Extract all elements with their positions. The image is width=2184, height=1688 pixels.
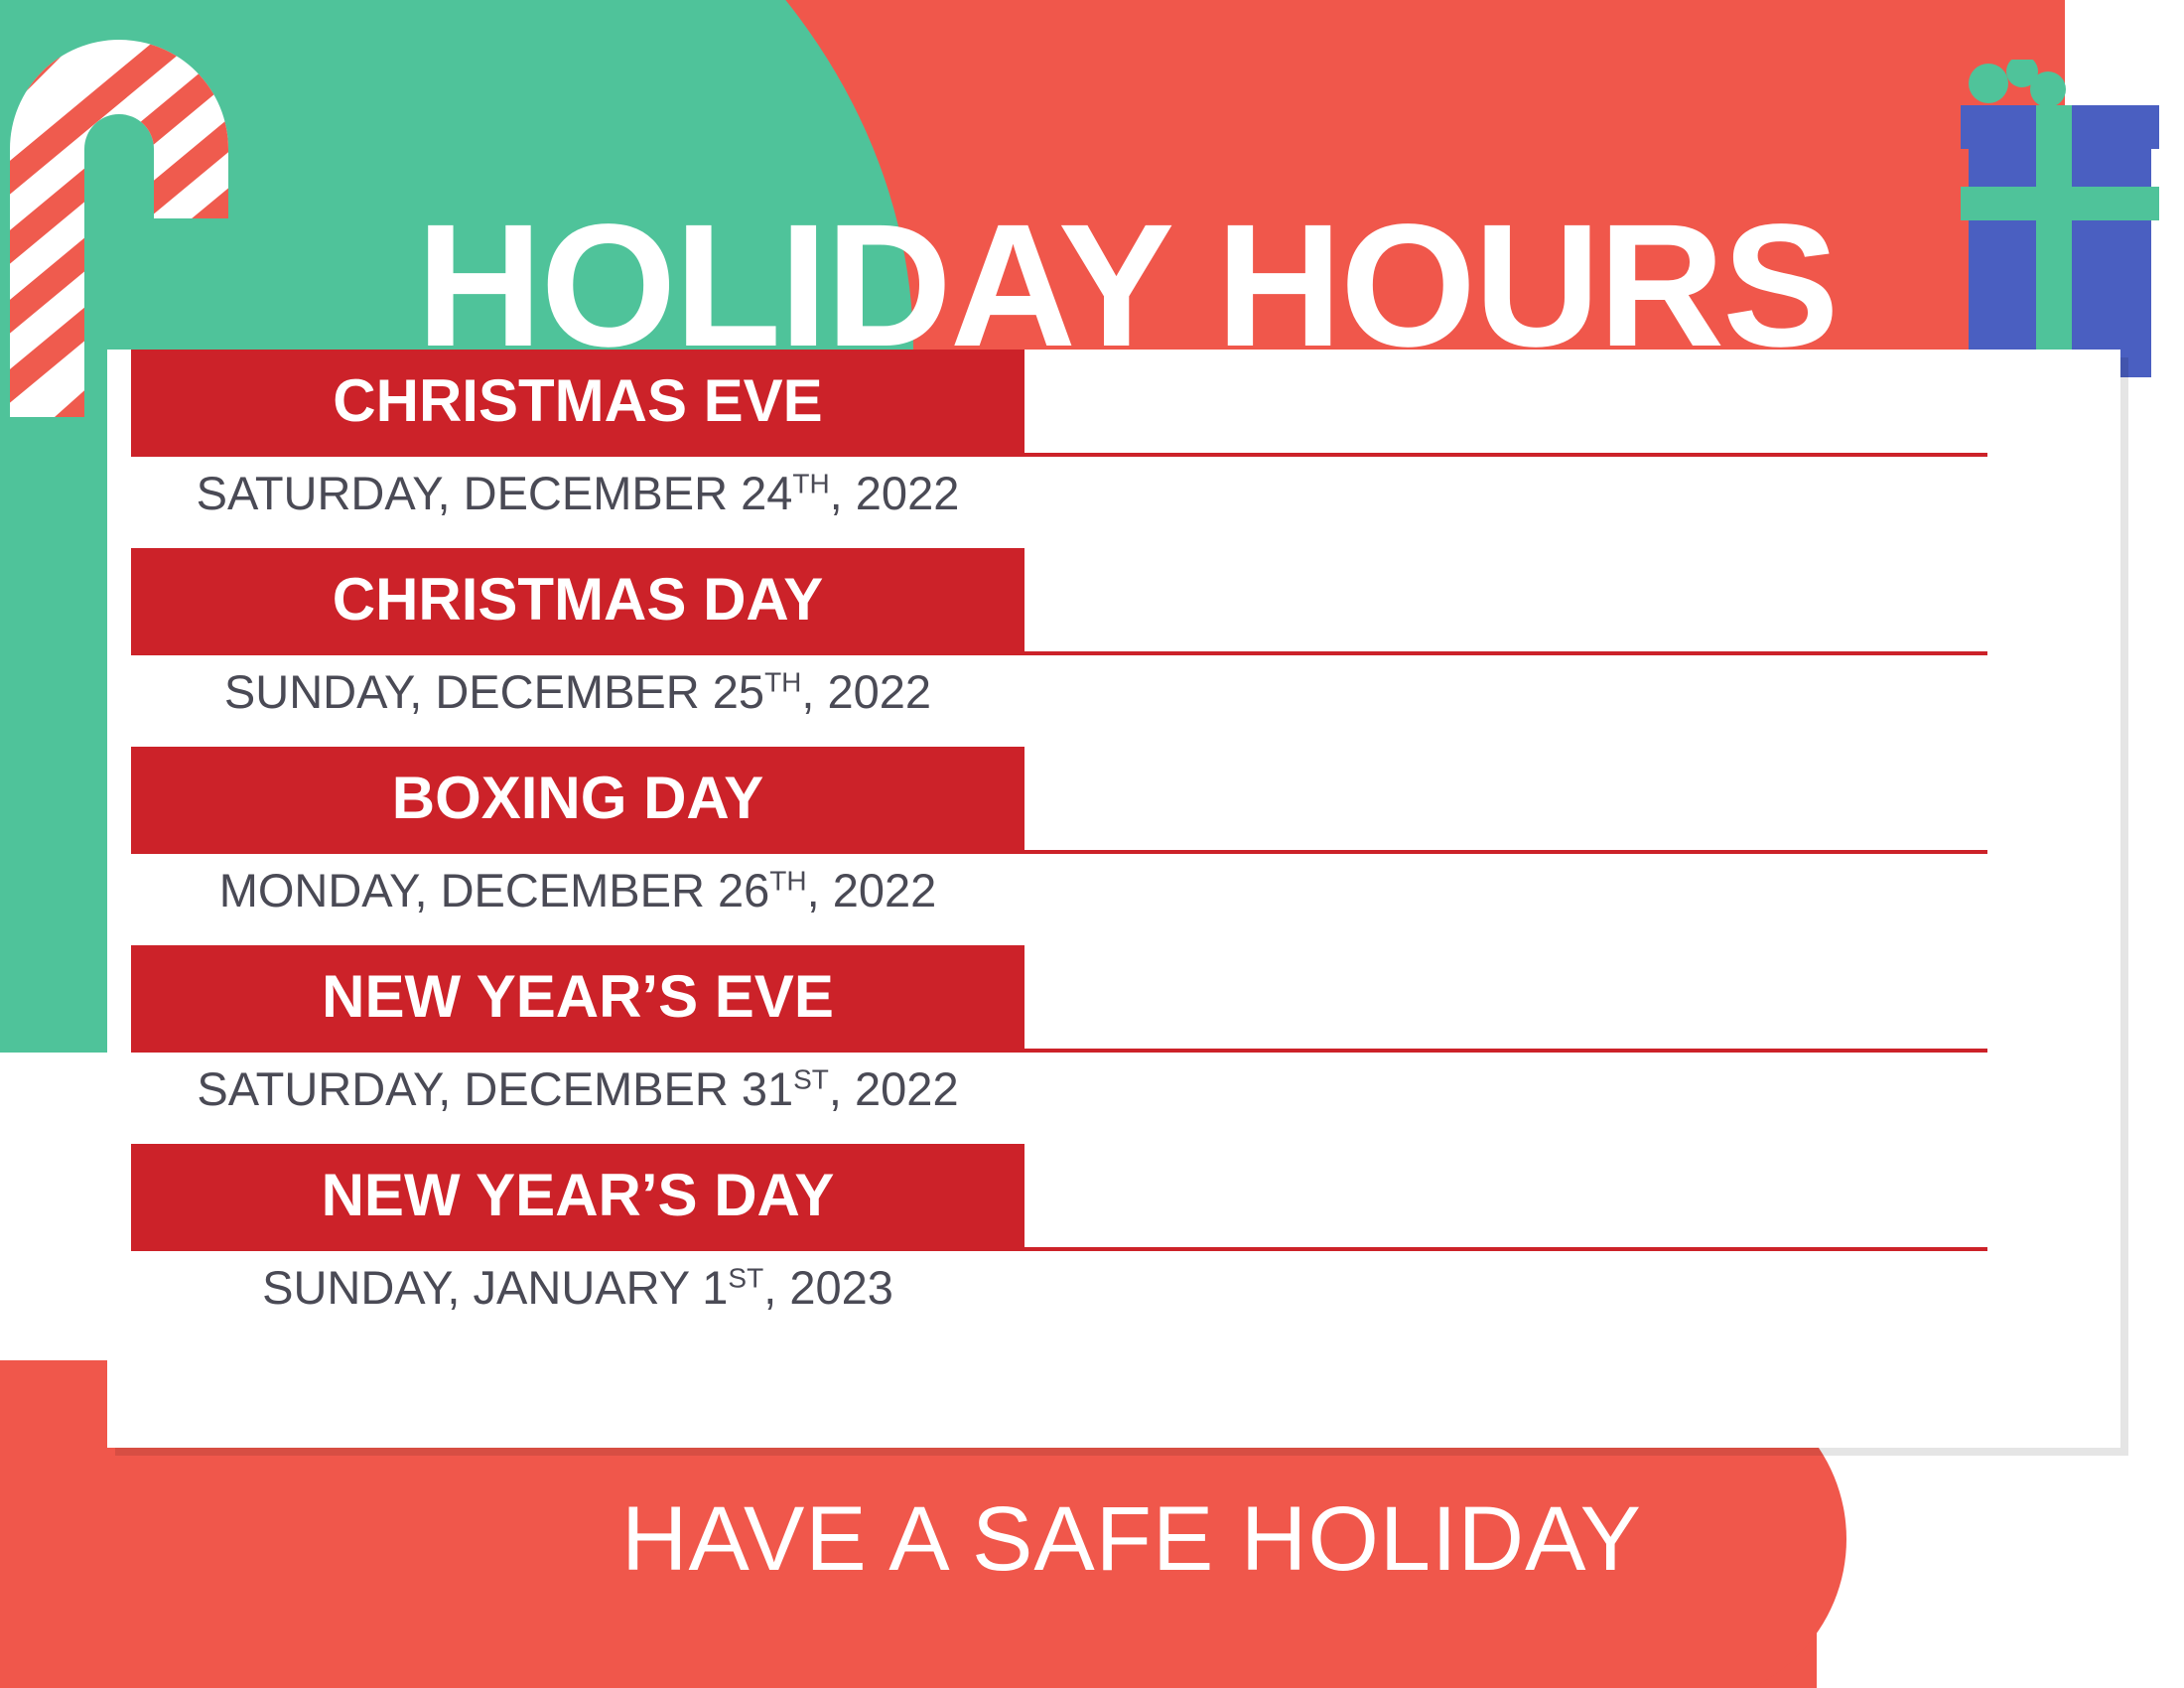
table-row: CHRISTMAS EVE SATURDAY, DECEMBER 24TH, 2… bbox=[107, 350, 2120, 548]
date-prefix: SUNDAY, JANUARY 1 bbox=[262, 1261, 728, 1314]
date-ordinal: TH bbox=[792, 468, 829, 498]
table-row: NEW YEAR’S EVE SATURDAY, DECEMBER 31ST, … bbox=[107, 945, 2120, 1144]
date-suffix: , 2022 bbox=[830, 467, 960, 519]
holiday-label: BOXING DAY bbox=[392, 769, 764, 828]
date-ordinal: ST bbox=[728, 1262, 763, 1293]
holiday-label-bar: NEW YEAR’S DAY bbox=[131, 1144, 1024, 1247]
table-row: NEW YEAR’S DAY SUNDAY, JANUARY 1ST, 2023 bbox=[107, 1144, 2120, 1342]
date-prefix: SATURDAY, DECEMBER 24 bbox=[197, 467, 793, 519]
row-rule bbox=[131, 453, 1987, 457]
table-row: BOXING DAY MONDAY, DECEMBER 26TH, 2022 bbox=[107, 747, 2120, 945]
holiday-date: SUNDAY, DECEMBER 25TH, 2022 bbox=[131, 663, 1024, 721]
date-prefix: SUNDAY, DECEMBER 25 bbox=[224, 665, 764, 718]
holiday-date: SATURDAY, DECEMBER 31ST, 2022 bbox=[131, 1060, 1024, 1118]
hours-card: CHRISTMAS EVE SATURDAY, DECEMBER 24TH, 2… bbox=[107, 350, 2120, 1448]
date-ordinal: TH bbox=[769, 865, 806, 896]
footer-message: HAVE A SAFE HOLIDAY bbox=[0, 1489, 2184, 1589]
date-ordinal: ST bbox=[793, 1063, 829, 1094]
holiday-hours-poster: HOLIDAY HOURS CHRISTMAS EVE SATURDAY, DE… bbox=[0, 0, 2184, 1688]
holiday-label-bar: NEW YEAR’S EVE bbox=[131, 945, 1024, 1049]
date-suffix: , 2023 bbox=[763, 1261, 893, 1314]
holiday-date: MONDAY, DECEMBER 26TH, 2022 bbox=[131, 862, 1024, 919]
date-suffix: , 2022 bbox=[807, 864, 937, 916]
page-title: HOLIDAY HOURS bbox=[0, 199, 2184, 373]
holiday-label-bar: CHRISTMAS EVE bbox=[131, 350, 1024, 453]
holiday-date: SUNDAY, JANUARY 1ST, 2023 bbox=[131, 1259, 1024, 1317]
row-rule bbox=[131, 651, 1987, 655]
table-row: CHRISTMAS DAY SUNDAY, DECEMBER 25TH, 202… bbox=[107, 548, 2120, 747]
holiday-label: CHRISTMAS EVE bbox=[333, 371, 822, 431]
date-suffix: , 2022 bbox=[829, 1062, 959, 1115]
row-rule bbox=[131, 1247, 1987, 1251]
row-rule bbox=[131, 1049, 1987, 1053]
holiday-label: NEW YEAR’S EVE bbox=[322, 967, 834, 1027]
date-prefix: SATURDAY, DECEMBER 31 bbox=[197, 1062, 793, 1115]
holiday-label-bar: BOXING DAY bbox=[131, 747, 1024, 850]
row-rule bbox=[131, 850, 1987, 854]
date-prefix: MONDAY, DECEMBER 26 bbox=[219, 864, 770, 916]
holiday-date: SATURDAY, DECEMBER 24TH, 2022 bbox=[131, 465, 1024, 522]
holiday-label-bar: CHRISTMAS DAY bbox=[131, 548, 1024, 651]
date-suffix: , 2022 bbox=[801, 665, 931, 718]
date-ordinal: TH bbox=[764, 666, 801, 697]
holiday-label: CHRISTMAS DAY bbox=[333, 570, 824, 630]
hours-row-list: CHRISTMAS EVE SATURDAY, DECEMBER 24TH, 2… bbox=[107, 350, 2120, 1342]
holiday-label: NEW YEAR’S DAY bbox=[322, 1166, 835, 1225]
